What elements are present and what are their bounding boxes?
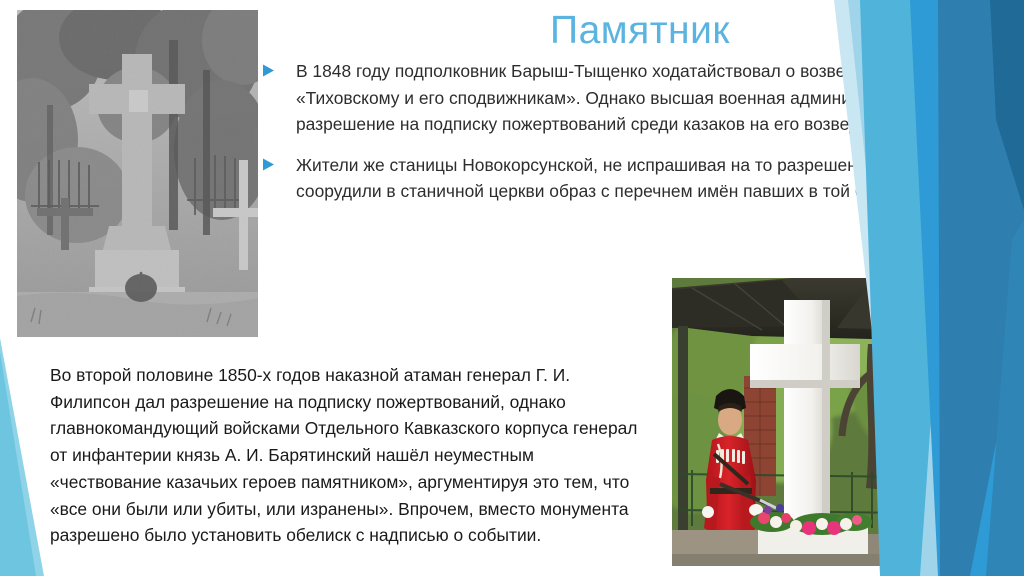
ribbon-dark-lower [986, 220, 1024, 576]
list-item-text: Жители же станицы Новокорсунской, не исп… [296, 152, 1002, 205]
presentation-slide: Памятник В 1848 году подполковник Барыш-… [0, 0, 1024, 576]
cossack-honor-guard-photo [672, 278, 990, 566]
bullet-list: В 1848 году подполковник Барыш-Тыщенко х… [262, 58, 1002, 219]
list-item: В 1848 году подполковник Барыш-Тыщенко х… [262, 58, 1002, 138]
historic-monument-cross-photo [17, 10, 258, 337]
triangle-bullet-icon [262, 64, 275, 77]
page-title: Памятник [290, 8, 990, 54]
body-paragraph: Во второй половине 1850-х годов наказной… [50, 362, 650, 549]
list-item: Жители же станицы Новокорсунской, не исп… [262, 152, 1002, 205]
wedge-shape-light [0, 338, 44, 576]
list-item-text: В 1848 году подполковник Барыш-Тыщенко х… [296, 58, 1002, 138]
triangle-bullet-icon [262, 158, 275, 171]
wedge-shape-mid [0, 352, 36, 576]
